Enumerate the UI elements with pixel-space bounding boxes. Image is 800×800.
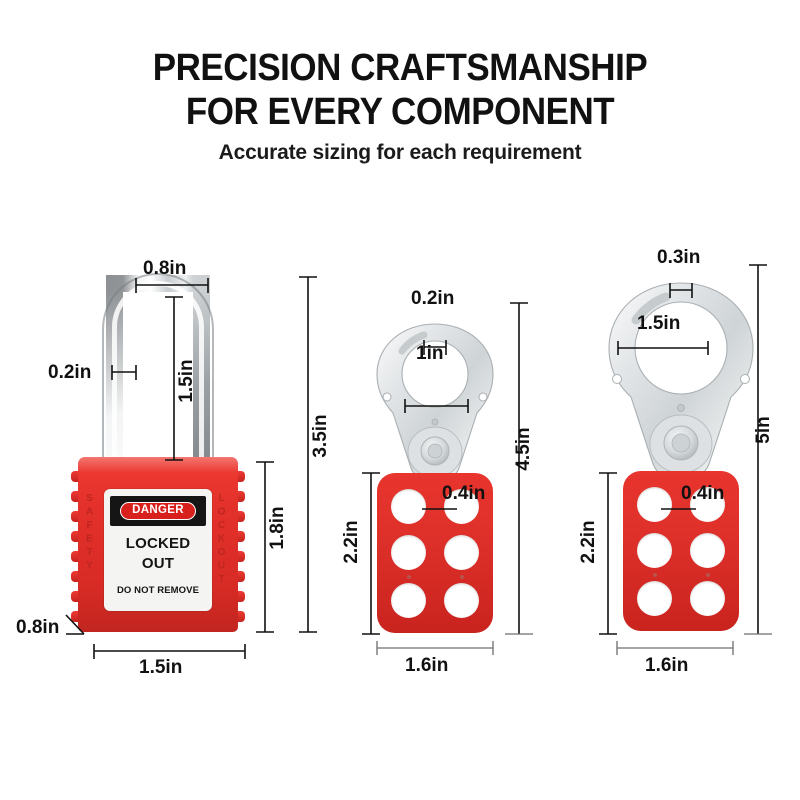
dim-hasp2-total-height: 5in [753,400,775,460]
product-spec-image: PRECISION CRAFTSMANSHIP FOR EVERY COMPON… [0,0,800,800]
dim-padlock-clearance: 1.5in [176,351,198,411]
dim-hasp1-jaw-opening: 1in [416,343,443,365]
dim-hasp1-body-height: 2.2in [341,512,363,572]
dim-padlock-shackle-diameter: 0.2in [48,362,91,384]
dim-hasp2-jaw-opening: 1.5in [637,313,680,335]
dim-hasp2-jaw-thickness: 0.3in [657,247,700,269]
dim-hasp1-total-height: 4.5in [513,419,535,479]
dim-hasp1-jaw-thickness: 0.2in [411,288,454,310]
dim-padlock-body-width: 1.5in [139,657,182,679]
dim-hasp2-body-width: 1.6in [645,655,688,677]
dim-padlock-total-height: 3.5in [310,406,332,466]
dim-hasp1-body-width: 1.6in [405,655,448,677]
dim-hasp2-hole-diameter: 0.4in [681,483,724,505]
dimension-lines-overlay [0,0,800,800]
dim-padlock-body-depth: 0.8in [16,617,59,639]
dim-hasp1-hole-diameter: 0.4in [442,483,485,505]
dim-padlock-body-height: 1.8in [267,498,289,558]
dim-hasp2-body-height: 2.2in [578,512,600,572]
dim-padlock-shackle-width: 0.8in [143,258,186,280]
